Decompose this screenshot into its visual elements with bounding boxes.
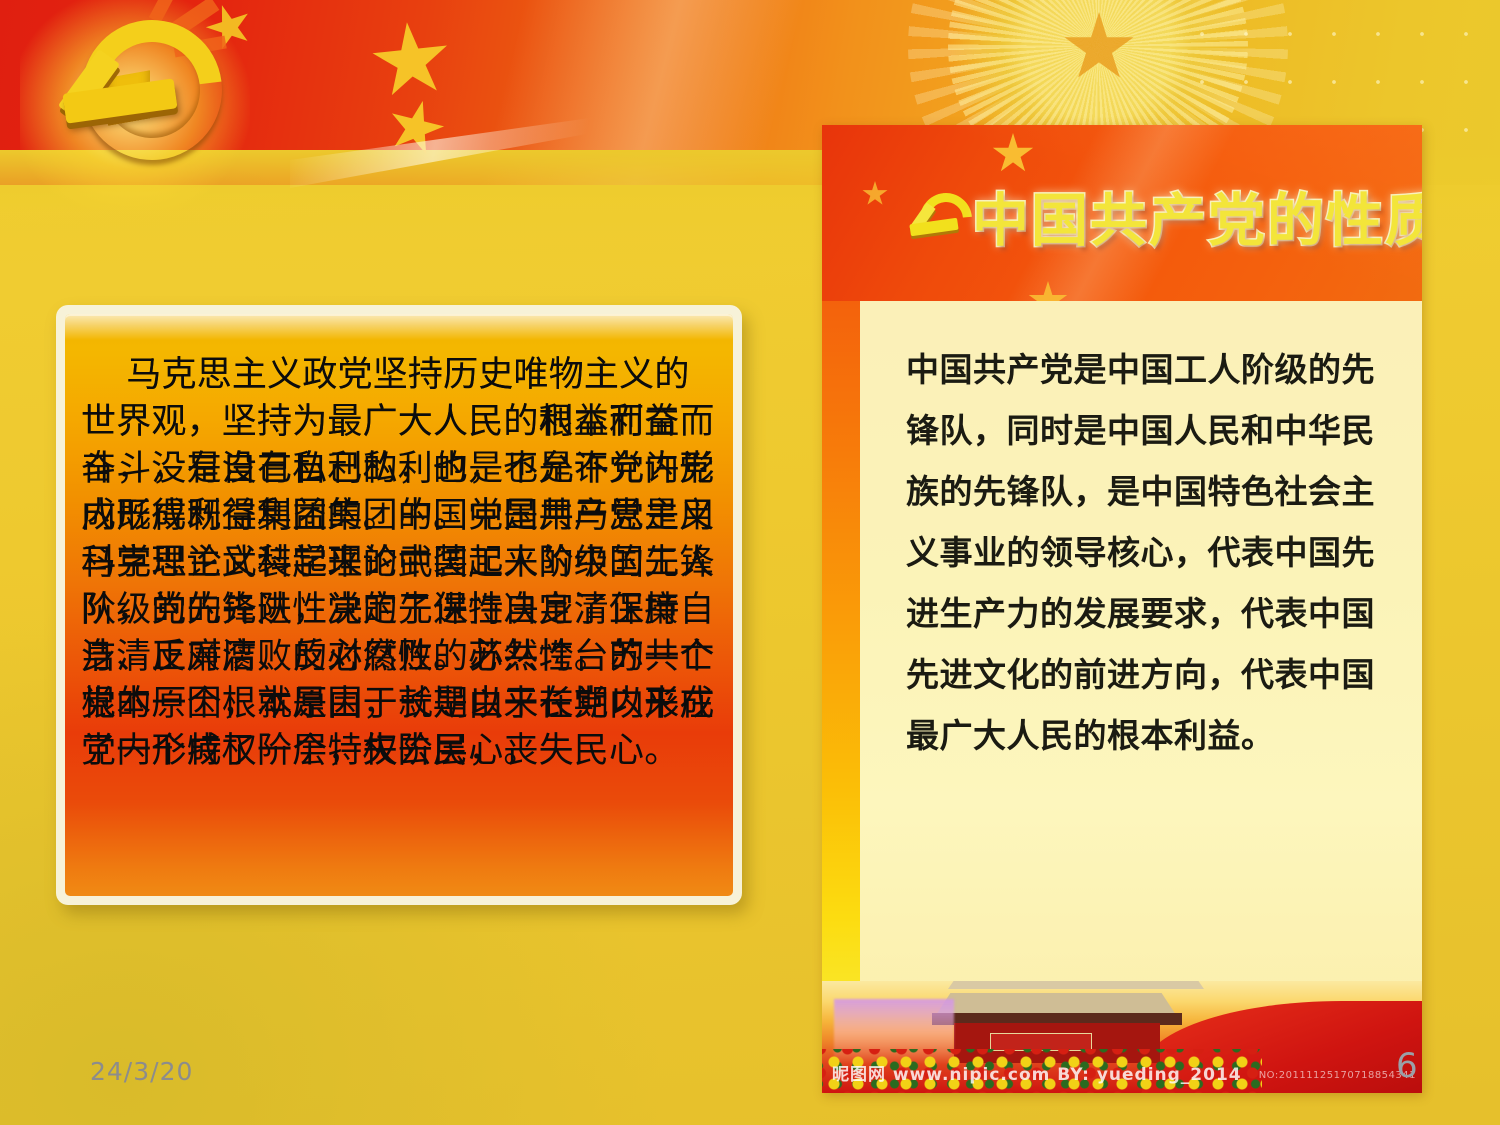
hammer-sickle-emblem-icon <box>904 191 966 251</box>
slide-number: 6 <box>1396 1046 1418 1086</box>
poster-body-panel: 中国共产党是中国工人阶级的先锋队，同时是中国人民和中华民族的先锋队，是中国特色社… <box>860 301 1422 1001</box>
slide-canvas: 马克思主义政党坚持历史唯物主义的世界观，坚持为最广大人民的根本利益而奋斗，是没有… <box>0 0 1500 1125</box>
poster-image-id: NO:20111125170718854341 <box>1259 1070 1416 1081</box>
poster-title: 中国共产党的性质 <box>972 181 1408 263</box>
hammer-sickle-emblem-icon <box>48 14 208 164</box>
content-textbox-fill: 马克思主义政党坚持历史唯物主义的世界观，坚持为最广大人民的根本利益而奋斗，是没有… <box>65 314 733 896</box>
poster-watermark: 昵图网 www.nipic.com BY: yueding_2014 <box>832 1060 1242 1085</box>
slide-footer-date: 24/3/20 <box>90 1057 193 1086</box>
poster-image[interactable]: 中国共产党的性质 中国共产党是中国工人阶级的先锋队，同时是中国人民和中华民族的先… <box>822 125 1422 1093</box>
poster-footer-image: 昵图网 www.nipic.com BY: yueding_2014 NO:20… <box>822 981 1422 1093</box>
tiananmen-gate-icon <box>942 981 1172 1059</box>
poster-header: 中国共产党的性质 <box>822 125 1422 301</box>
poster-body-text: 中国共产党是中国工人阶级的先锋队，同时是中国人民和中华民族的先锋队，是中国特色社… <box>906 339 1376 766</box>
content-textbox[interactable]: 马克思主义政党坚持历史唯物主义的世界观，坚持为最广大人民的根本利益而奋斗，是没有… <box>56 305 742 905</box>
content-paragraph-layer-b: 马克思主义政党坚持历史唯物主义的世界观，坚持为最广大人民的利益而奋斗，没有自己私… <box>65 314 733 775</box>
gate-upper-roof <box>948 981 1204 989</box>
gate-lower-roof <box>936 993 1176 1015</box>
poster-left-gradient-edge <box>822 301 862 1001</box>
